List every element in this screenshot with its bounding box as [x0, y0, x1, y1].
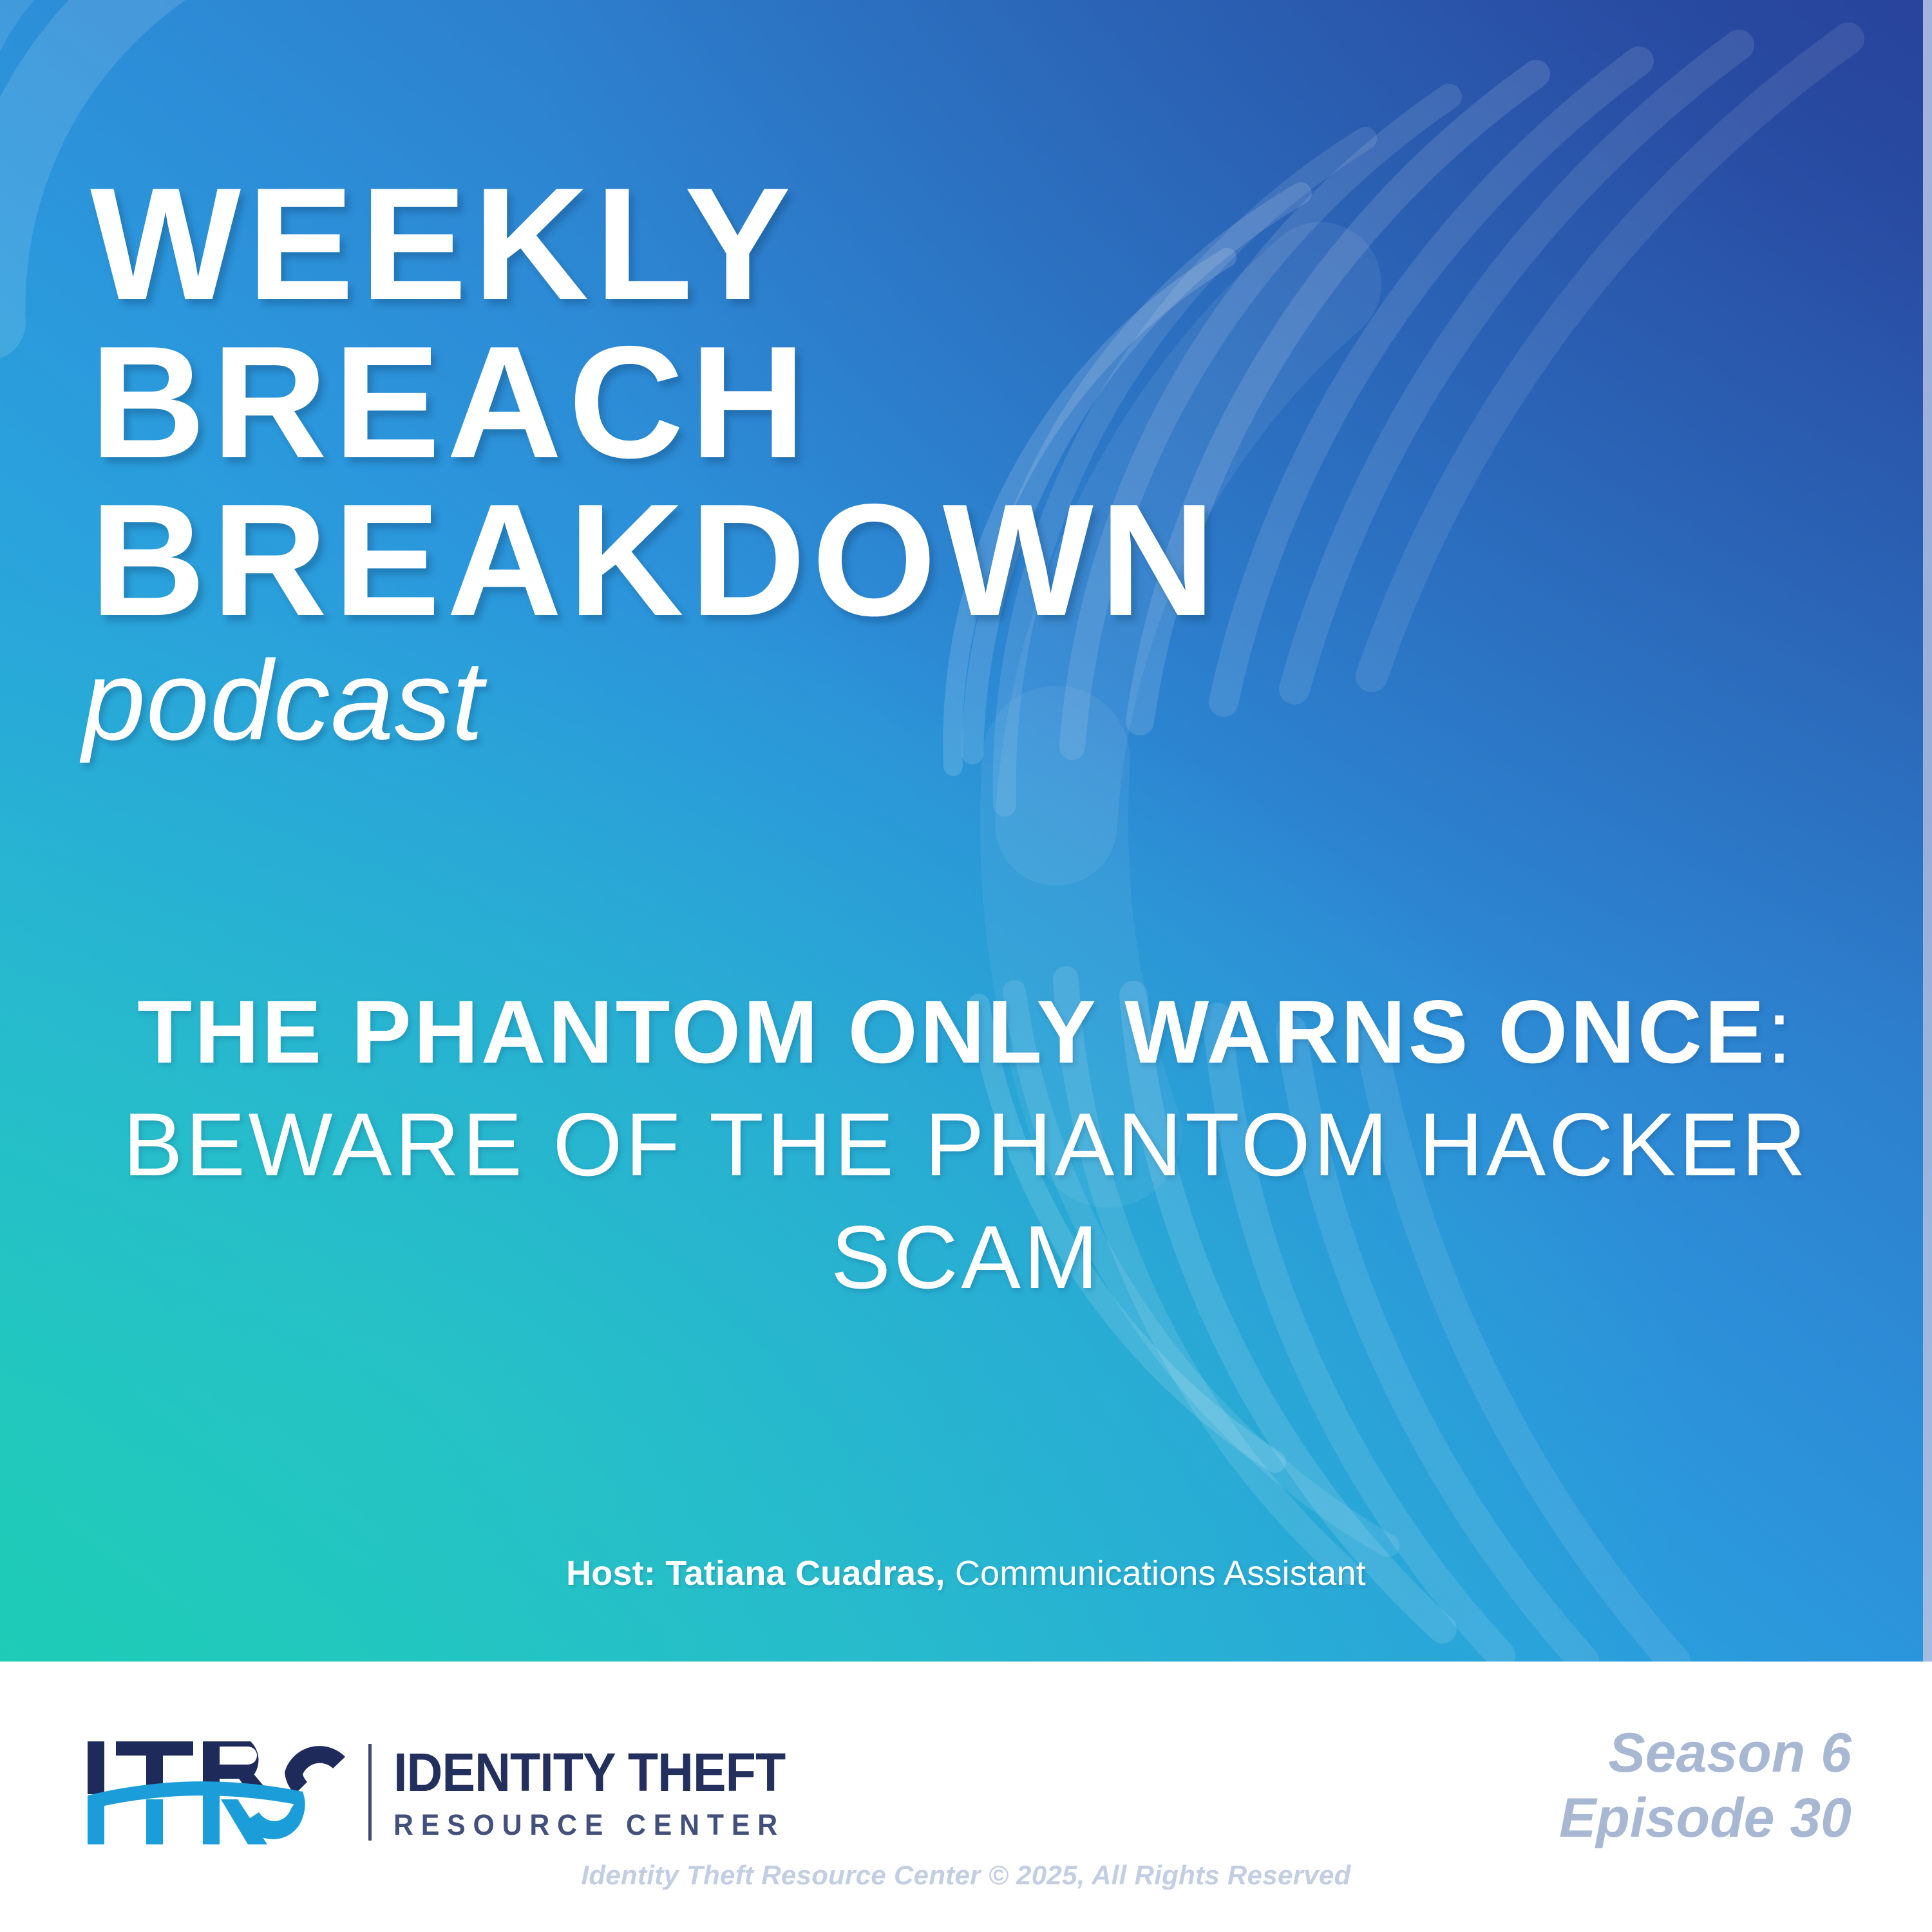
episode-label: Episode 30 — [1559, 1786, 1851, 1851]
show-title: WEEKLY BREACH BREAKDOWN — [90, 165, 1700, 639]
season-label: Season 6 — [1559, 1721, 1851, 1786]
itrc-logo: IDENTITY THEFT RESOURCE CENTER — [84, 1738, 819, 1847]
host-credit: Host: Tatiana Cuadras, Communications As… — [58, 1553, 1874, 1593]
host-name: Host: Tatiana Cuadras, — [566, 1554, 945, 1593]
logo-wordmark-line-1: IDENTITY THEFT — [393, 1745, 785, 1799]
podcast-cover-art: WEEKLY BREACH BREAKDOWN podcast THE PHAN… — [0, 0, 1932, 1932]
episode-title-emphasis: THE PHANTOM ONLY WARNS ONCE — [137, 982, 1766, 1082]
show-subtitle-podcast: podcast — [82, 644, 484, 757]
right-edge-strip — [1923, 0, 1932, 1662]
logo-wordmark: IDENTITY THEFT RESOURCE CENTER — [393, 1745, 819, 1839]
show-title-line-3: BREAKDOWN — [90, 481, 1700, 639]
itrc-monogram-icon — [84, 1738, 354, 1847]
show-title-line-2: BREACH — [90, 323, 1700, 482]
episode-title: THE PHANTOM ONLY WARNS ONCE: BEWARE OF T… — [58, 976, 1874, 1314]
logo-wordmark-line-2: RESOURCE CENTER — [393, 1810, 798, 1839]
copyright-notice: Identity Theft Resource Center © 2025, A… — [0, 1860, 1932, 1891]
logo-divider — [368, 1744, 372, 1841]
season-episode-block: Season 6 Episode 30 — [1559, 1721, 1851, 1851]
gradient-artwork-panel: WEEKLY BREACH BREAKDOWN podcast THE PHAN… — [0, 0, 1932, 1662]
show-title-line-1: WEEKLY — [90, 165, 1700, 323]
footer-bar: IDENTITY THEFT RESOURCE CENTER Season 6 … — [0, 1662, 1932, 1932]
host-role: Communications Assistant — [945, 1554, 1366, 1593]
